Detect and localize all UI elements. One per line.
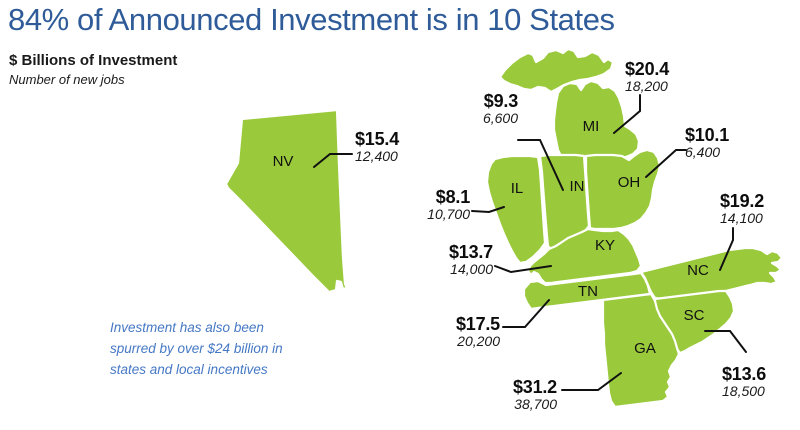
callout-mi-jobs: 18,200 [625,78,669,94]
callout-il: $8.1 10,700 [355,188,470,222]
callout-nv: $15.4 12,400 [355,130,399,164]
callout-tn-amount: $17.5 [375,315,500,333]
callout-tn: $17.5 20,200 [375,315,500,349]
callout-in-amount: $9.3 [398,92,518,110]
callout-oh-amount: $10.1 [685,126,729,144]
callout-ga-jobs: 38,700 [432,396,557,412]
state-label-in: IN [570,178,585,195]
callout-ky: $13.7 14,000 [368,243,493,277]
callout-tn-jobs: 20,200 [375,333,500,349]
infographic-root: 84% of Announced Investment is in 10 Sta… [0,0,800,430]
callout-ga: $31.2 38,700 [432,378,557,412]
callout-sc-amount: $13.6 [722,365,766,383]
callout-sc-jobs: 18,500 [722,383,766,399]
callout-nv-jobs: 12,400 [355,148,399,164]
state-label-sc: SC [684,307,705,324]
state-label-mi: MI [583,118,600,135]
callout-sc: $13.6 18,500 [722,365,766,399]
state-label-ky: KY [595,237,615,254]
callout-in: $9.3 6,600 [398,92,518,126]
callout-ky-jobs: 14,000 [368,261,493,277]
callout-ga-amount: $31.2 [432,378,557,396]
state-label-nv: NV [273,153,294,170]
callout-oh: $10.1 6,400 [685,126,729,160]
state-shape-nv[interactable] [226,110,347,292]
state-label-il: IL [511,180,524,197]
callout-nc: $19.2 14,100 [720,192,764,226]
callout-mi-amount: $20.4 [625,60,669,78]
state-label-ga: GA [634,340,656,357]
state-label-nc: NC [687,262,709,279]
callout-il-jobs: 10,700 [355,206,470,222]
state-label-tn: TN [578,283,598,300]
callout-nv-amount: $15.4 [355,130,399,148]
callout-ky-amount: $13.7 [368,243,493,261]
callout-mi: $20.4 18,200 [625,60,669,94]
callout-nc-jobs: 14,100 [720,210,764,226]
callout-in-jobs: 6,600 [398,110,518,126]
callout-il-amount: $8.1 [355,188,470,206]
state-label-oh: OH [618,174,641,191]
callout-oh-jobs: 6,400 [685,144,729,160]
callout-nc-amount: $19.2 [720,192,764,210]
